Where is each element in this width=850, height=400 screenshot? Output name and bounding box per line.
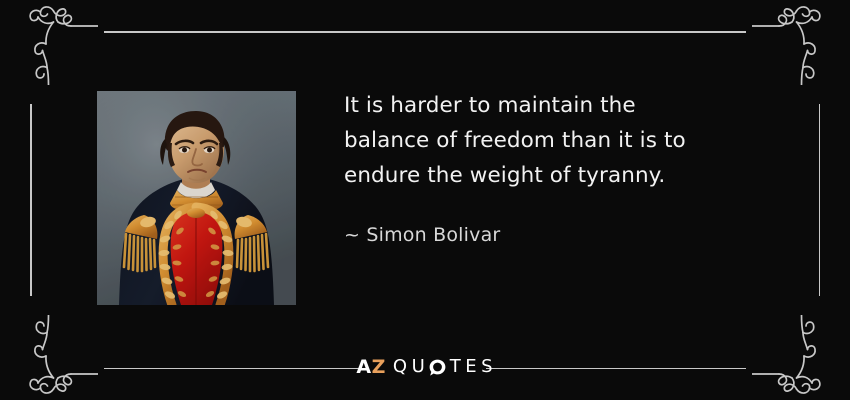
frame-line-left xyxy=(30,104,32,296)
logo-letter-a: A xyxy=(356,356,371,378)
frame-line-top xyxy=(104,31,746,33)
speech-bubble-o-icon xyxy=(429,359,446,376)
logo-letter-z: Z xyxy=(372,356,386,378)
corner-ornament-top-right xyxy=(752,0,842,85)
logo-letter-u: U xyxy=(412,358,426,376)
frame-line-right xyxy=(819,104,821,296)
author-portrait xyxy=(97,91,296,305)
corner-ornament-top-left xyxy=(8,0,98,85)
quote-card: It is harder to maintain the balance of … xyxy=(0,0,850,400)
logo-letter-e: E xyxy=(465,358,477,376)
azquotes-logo[interactable]: AZ Q U T E S xyxy=(0,356,850,378)
logo-letter-q: Q xyxy=(393,358,408,376)
quote-block: It is harder to maintain the balance of … xyxy=(344,88,764,193)
quote-text: It is harder to maintain the balance of … xyxy=(344,88,764,193)
logo-az-mark: AZ xyxy=(356,358,386,377)
quote-attribution: ~ Simon Bolivar xyxy=(344,224,500,246)
logo-word-quotes: Q U T E S xyxy=(393,358,494,376)
logo-letter-t: T xyxy=(450,358,462,376)
logo-letter-s: S xyxy=(481,358,493,376)
